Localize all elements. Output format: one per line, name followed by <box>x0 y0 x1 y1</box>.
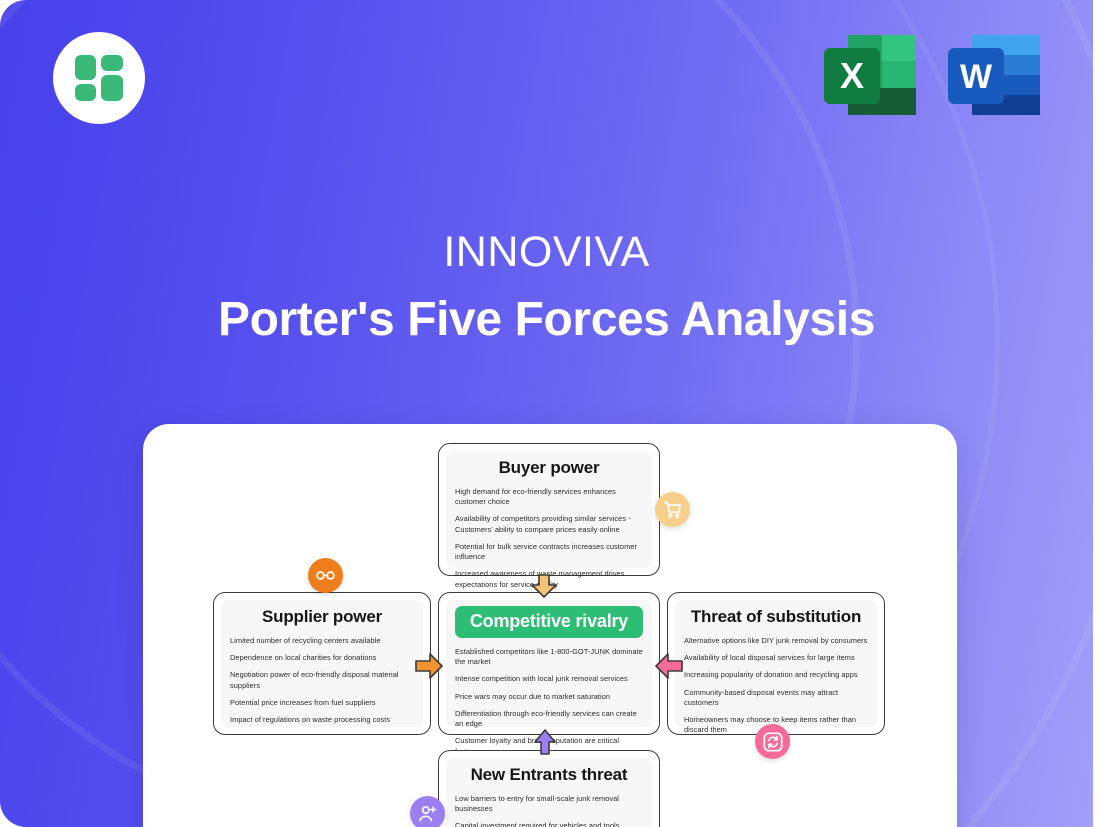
arrow-left-icon <box>655 652 683 680</box>
link-chain-icon <box>308 558 343 593</box>
force-box-substitution[interactable]: Threat of substitution Alternative optio… <box>667 592 885 735</box>
force-title-supplier: Supplier power <box>230 607 414 627</box>
list-item: Community-based disposal events may attr… <box>684 688 868 708</box>
list-item: Low barriers to entry for small-scale ju… <box>455 794 643 814</box>
page-title: Porter's Five Forces Analysis <box>0 292 1093 347</box>
list-item: Capital investment required for vehicles… <box>455 821 643 827</box>
brand-name: INNOVIVA <box>0 228 1093 277</box>
svg-text:W: W <box>960 58 993 96</box>
list-item: Negotiation power of eco-friendly dispos… <box>230 670 414 690</box>
list-item: Potential price increases from fuel supp… <box>230 698 414 708</box>
grid-dashboard-icon <box>75 55 123 101</box>
arrow-up-icon <box>533 729 557 755</box>
force-box-buyer[interactable]: Buyer power High demand for eco-friendly… <box>438 443 660 576</box>
list-item: Increasing popularity of donation and re… <box>684 670 868 680</box>
svg-text:X: X <box>840 55 864 96</box>
add-user-icon <box>410 796 445 827</box>
force-box-rivalry[interactable]: Competitive rivalry Established competit… <box>438 592 660 735</box>
list-item: Differentiation through eco-friendly ser… <box>455 709 643 729</box>
refresh-sync-icon <box>755 724 790 759</box>
five-forces-diagram: Buyer power High demand for eco-friendly… <box>143 424 957 827</box>
force-points-supplier: Limited number of recycling centers avai… <box>230 636 414 732</box>
content-card: Buyer power High demand for eco-friendly… <box>143 424 957 827</box>
list-item: Alternative options like DIY junk remova… <box>684 636 868 646</box>
poster-canvas: X W INNOVIVA Porter's Five Forces Analys… <box>0 0 1100 827</box>
list-item: Impact of regulations on waste processin… <box>230 715 414 725</box>
force-title-rivalry: Competitive rivalry <box>455 606 643 638</box>
arrow-down-icon <box>529 574 559 598</box>
arrow-right-icon <box>415 652 443 680</box>
list-item: Established competitors like 1-800-GOT-J… <box>455 647 643 667</box>
force-title-substitution: Threat of substitution <box>684 607 868 627</box>
force-points-entrants: Low barriers to entry for small-scale ju… <box>455 794 643 827</box>
list-item: High demand for eco-friendly services en… <box>455 487 643 507</box>
list-item: Limited number of recycling centers avai… <box>230 636 414 646</box>
force-title-buyer: Buyer power <box>455 458 643 478</box>
force-box-supplier[interactable]: Supplier power Limited number of recycli… <box>213 592 431 735</box>
word-icon[interactable]: W <box>944 30 1044 120</box>
list-item: Dependence on local charities for donati… <box>230 653 414 663</box>
list-item: Availability of local disposal services … <box>684 653 868 663</box>
excel-icon[interactable]: X <box>820 30 920 120</box>
shopping-cart-icon <box>655 492 690 527</box>
brand-logo <box>53 32 145 124</box>
force-title-entrants: New Entrants threat <box>455 765 643 785</box>
list-item: Availability of competitors providing si… <box>455 514 643 534</box>
list-item: Intense competition with local junk remo… <box>455 674 643 684</box>
force-box-entrants[interactable]: New Entrants threat Low barriers to entr… <box>438 750 660 827</box>
list-item: Potential for bulk service contracts inc… <box>455 542 643 562</box>
list-item: Price wars may occur due to market satur… <box>455 692 643 702</box>
